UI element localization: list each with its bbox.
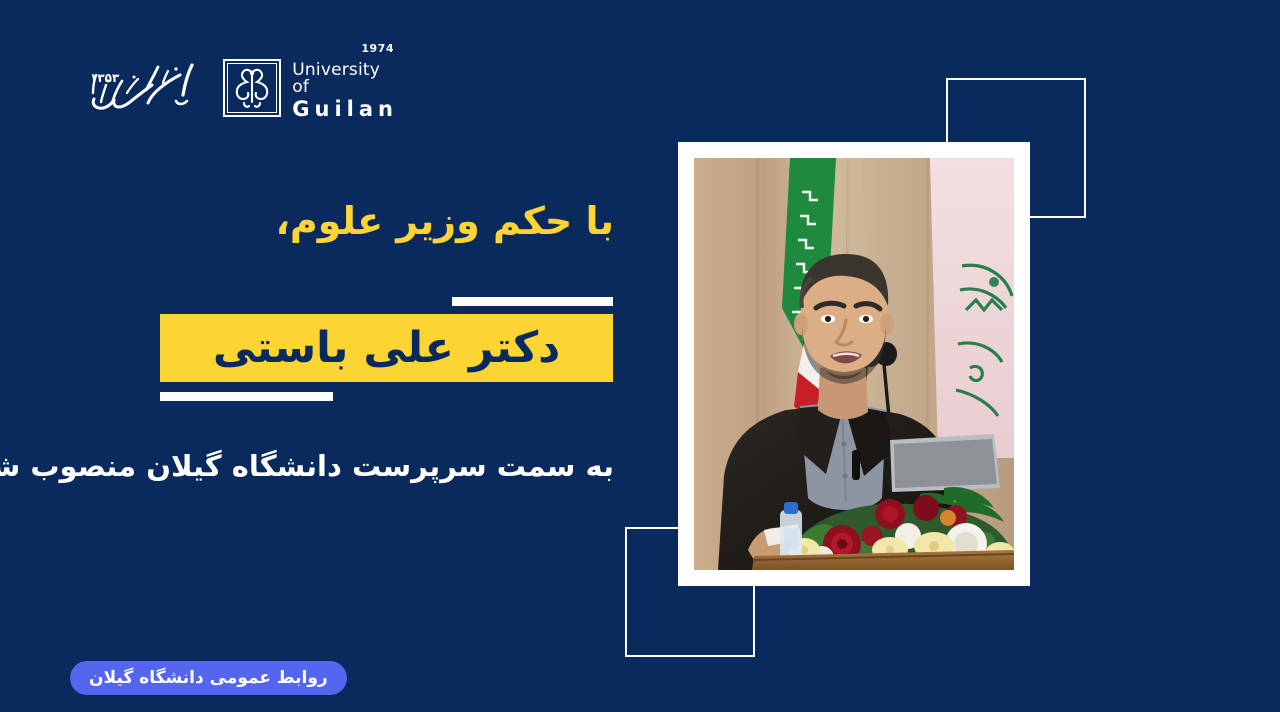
logo-founded-year-english: 1974 <box>361 43 394 54</box>
accent-bar-top <box>452 297 613 306</box>
kicker-text: با حکم وزیر علوم، <box>276 198 615 246</box>
public-relations-badge-label: روابط عمومی دانشگاه گیلان <box>89 668 328 688</box>
person-name: دکتر علی باستی <box>213 327 560 370</box>
logo-english-line2: Guilan <box>292 99 398 120</box>
speaker-photo <box>694 158 1014 570</box>
logo-persian-text: ۱۳۵۳ <box>88 53 212 123</box>
accent-bar-bottom <box>160 392 333 401</box>
subtitle-text: به سمت سرپرست دانشگاه گیلان منصوب شد <box>0 448 614 486</box>
logo-persian-nastaliq-mark <box>88 55 200 121</box>
guilan-university-emblem-icon <box>222 58 282 118</box>
public-relations-badge: روابط عمومی دانشگاه گیلان <box>70 661 347 695</box>
name-highlight-band: دکتر علی باستی <box>160 314 613 382</box>
announcement-poster: 1974 University of Guilan ۱۳۵۳ <box>0 0 1280 712</box>
speaker-photo-frame <box>678 142 1030 586</box>
logo-english-text: 1974 University of Guilan <box>292 56 398 120</box>
logo-founded-year-persian: ۱۳۵۳ <box>90 71 119 85</box>
logo-english-line1: University of <box>292 62 398 96</box>
university-logo: 1974 University of Guilan ۱۳۵۳ <box>88 42 398 134</box>
